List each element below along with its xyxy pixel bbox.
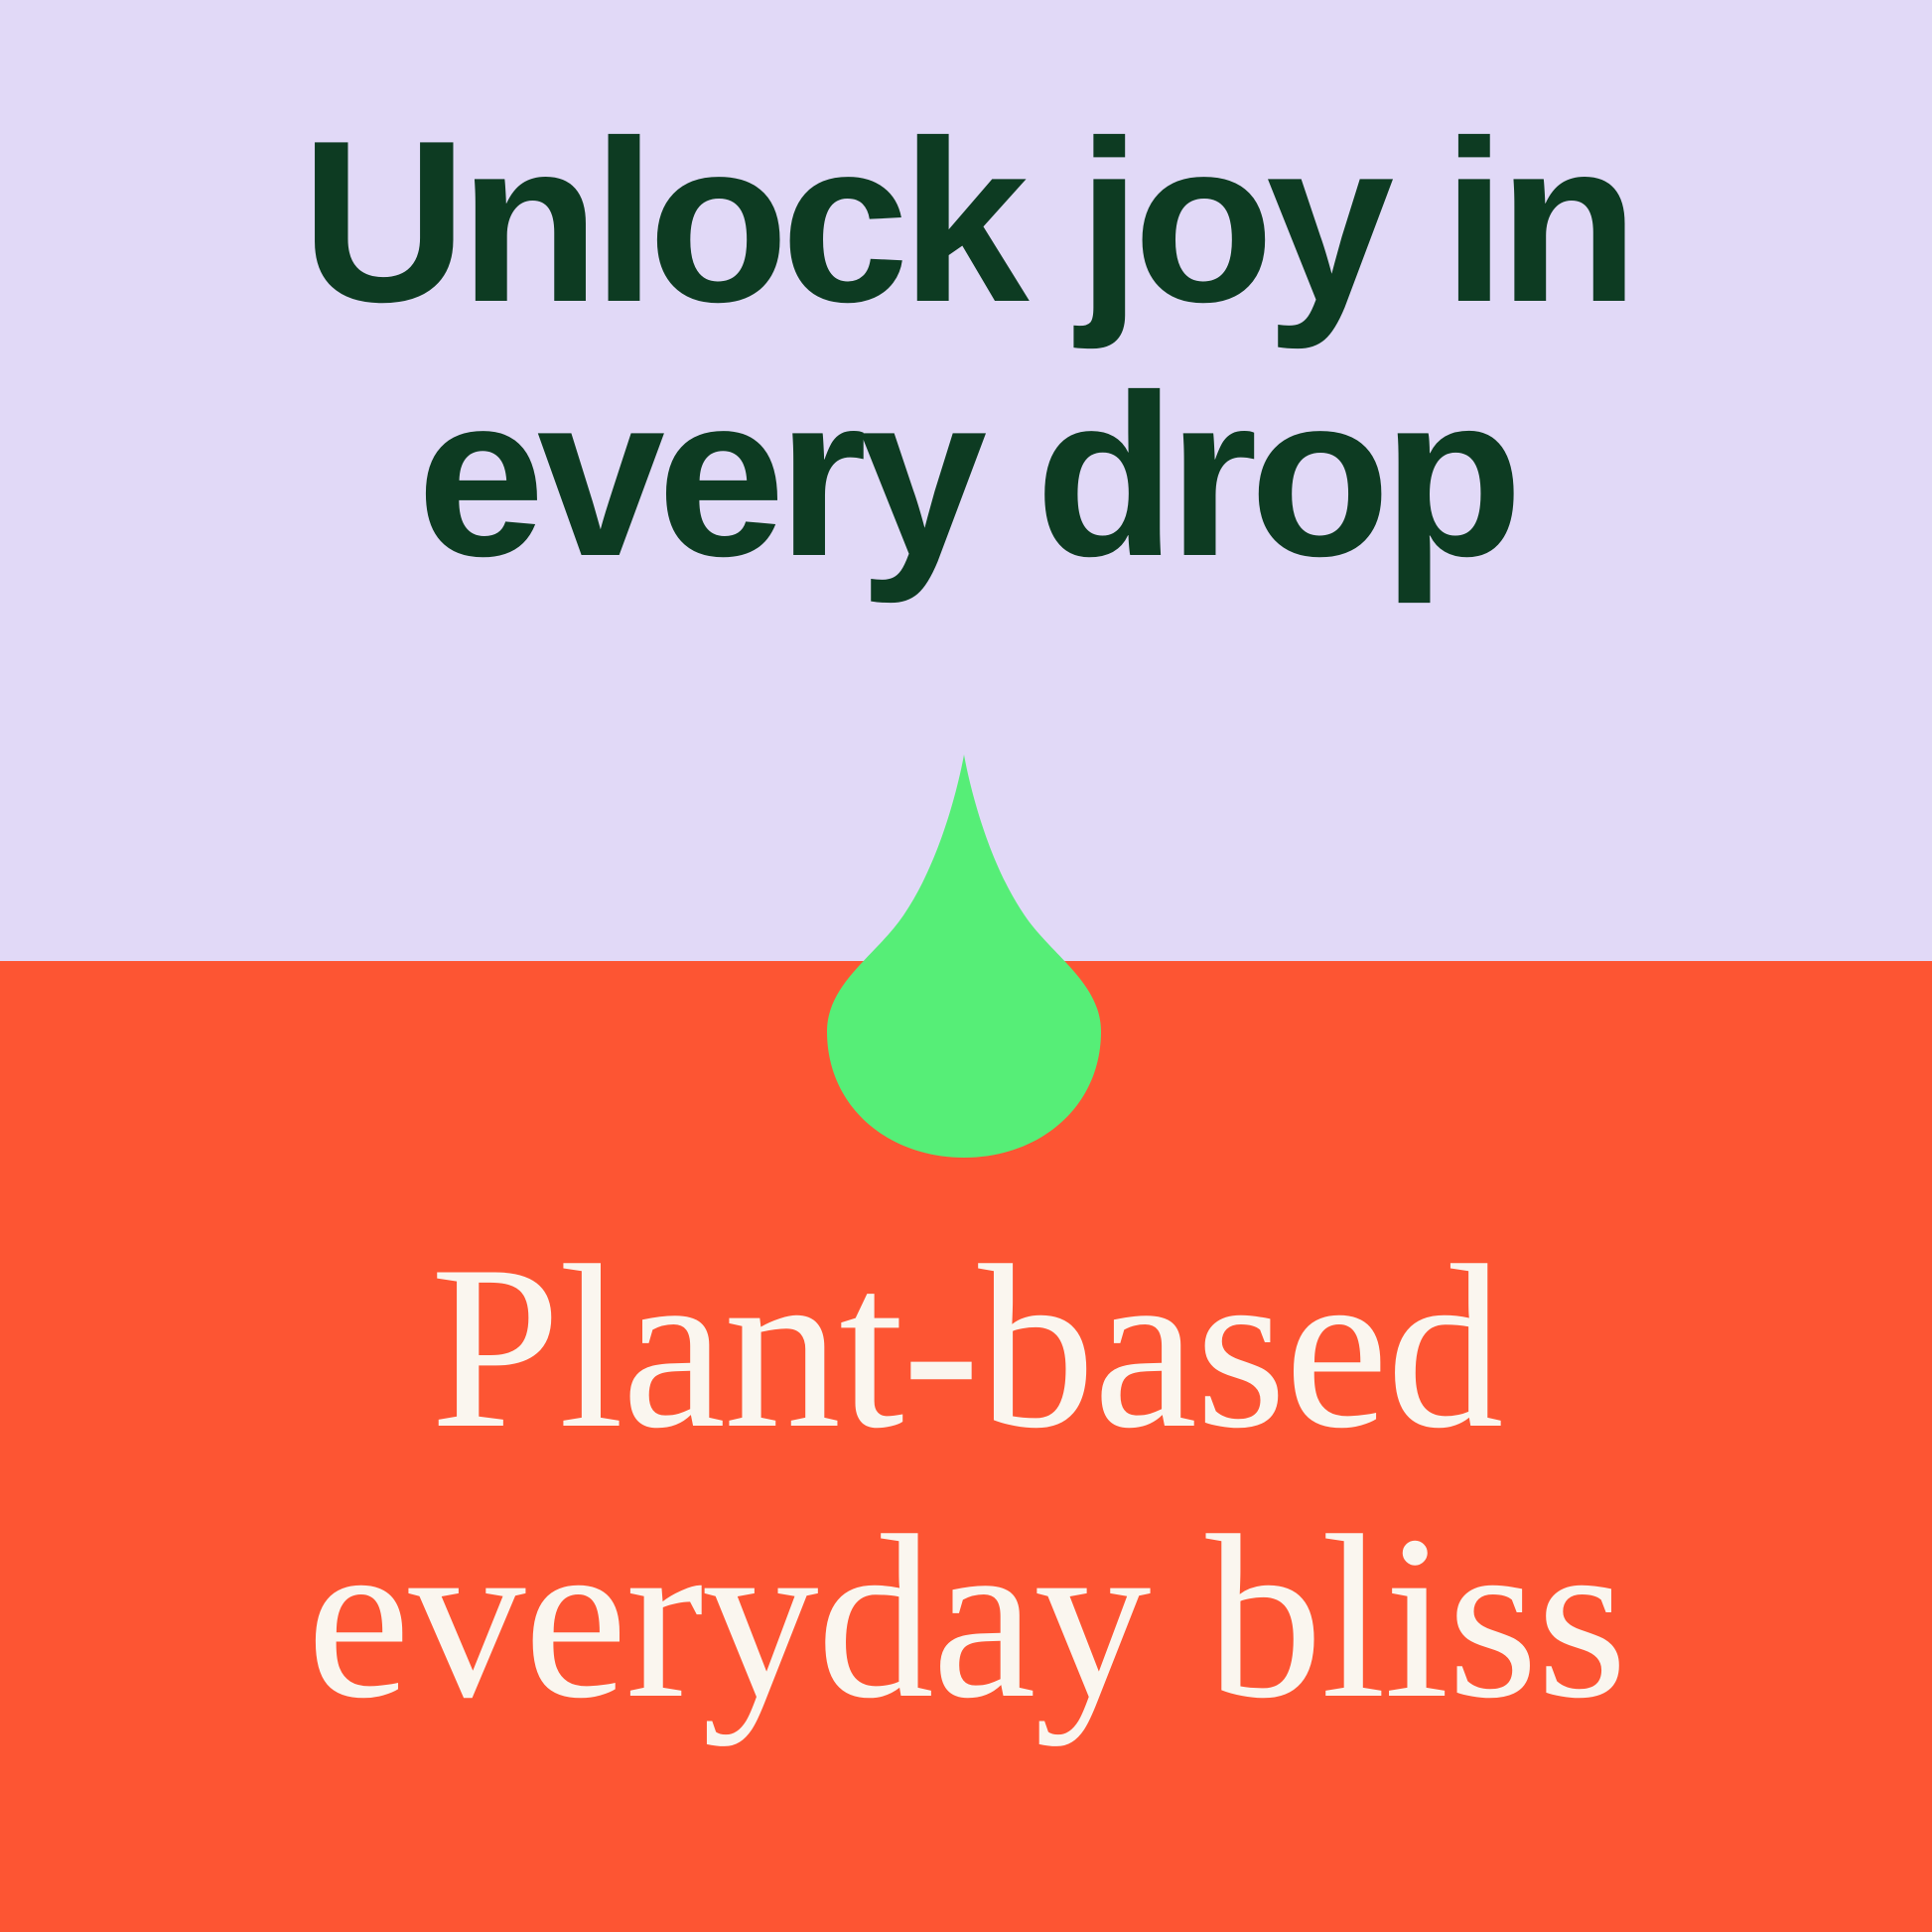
subheadline: Plant-based everyday bliss — [0, 1213, 1932, 1753]
subheadline-line-1: Plant-based — [0, 1213, 1932, 1483]
headline-line-2: every drop — [0, 349, 1932, 604]
subheadline-line-2: everyday bliss — [0, 1483, 1932, 1753]
water-droplet-icon — [827, 755, 1101, 1158]
headline-line-1: Unlock joy in — [0, 95, 1932, 349]
poster-canvas: Unlock joy in every drop Plant-based eve… — [0, 0, 1932, 1932]
water-droplet-graphic — [818, 747, 1110, 1166]
headline: Unlock joy in every drop — [0, 95, 1932, 604]
